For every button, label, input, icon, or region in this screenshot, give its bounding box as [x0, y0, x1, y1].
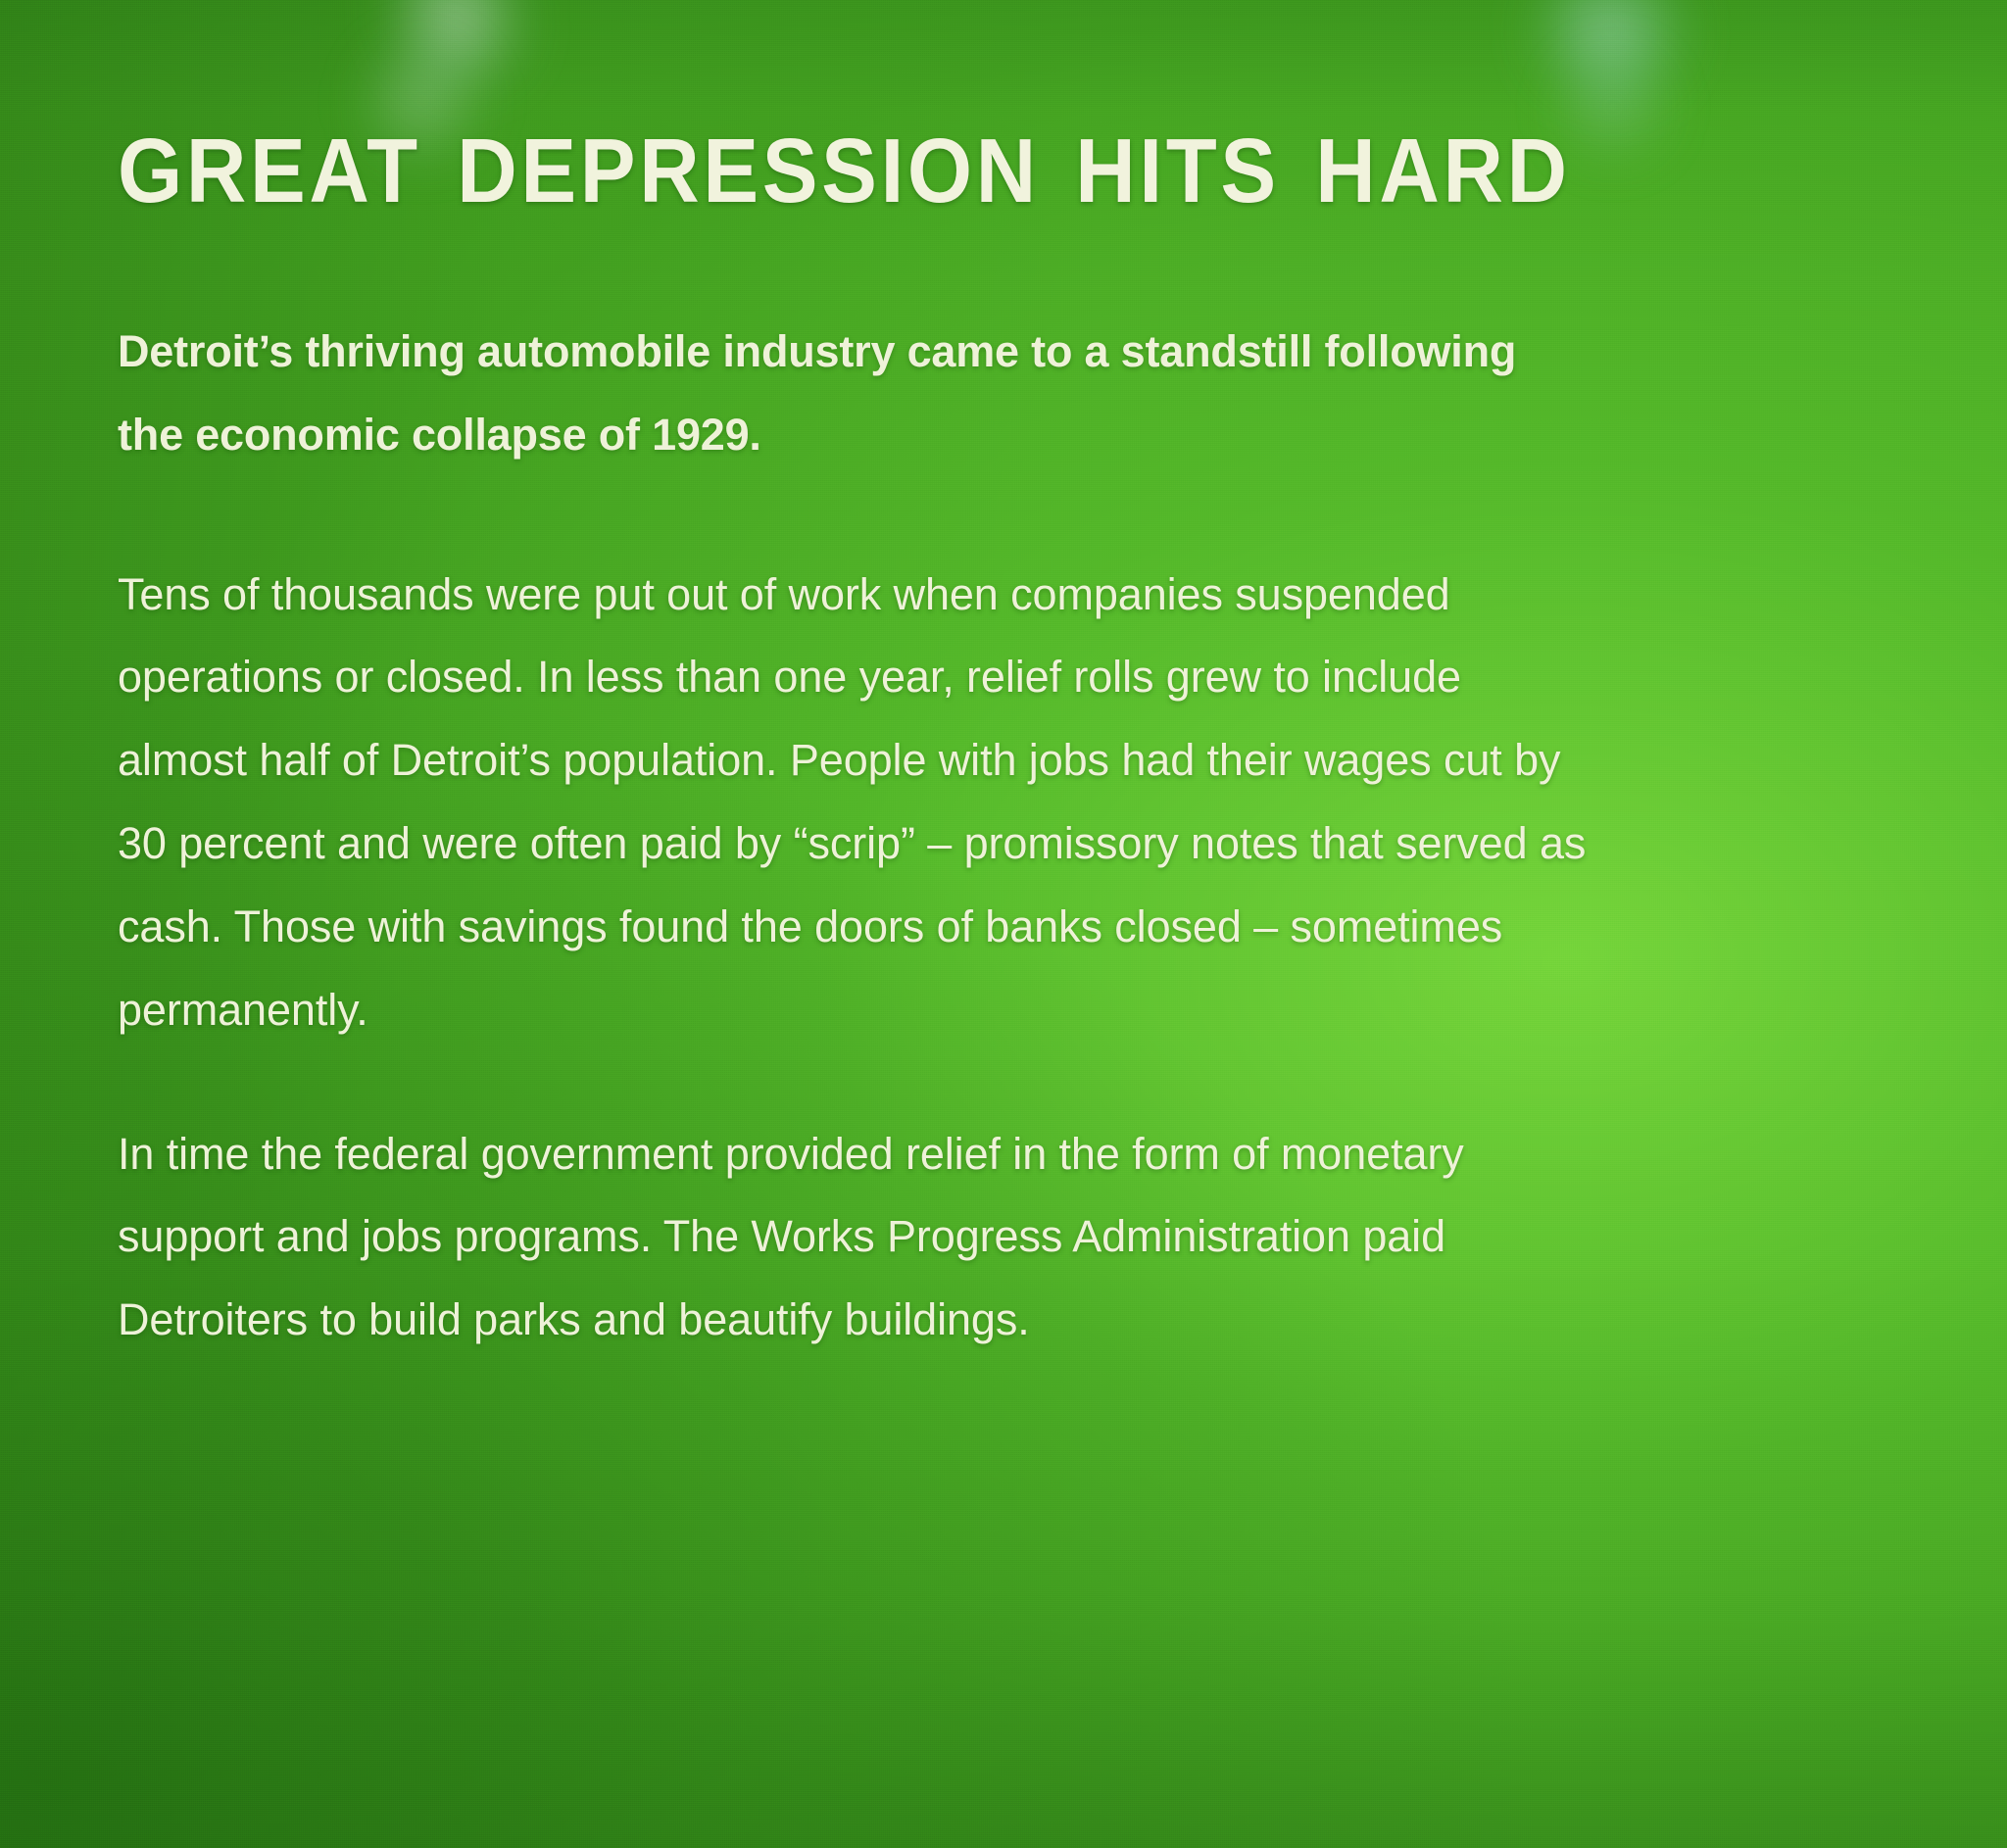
panel-content: Great Depression Hits Hard Detroit’s thr… [118, 125, 1882, 1362]
body-paragraph-federal-relief: In time the federal government provided … [118, 1113, 1509, 1362]
light-glare-right-icon [1524, 0, 1696, 114]
page-title: Great Depression Hits Hard [118, 125, 1732, 217]
exhibit-panel: Great Depression Hits Hard Detroit’s thr… [0, 0, 2007, 1848]
body-paragraph-unemployment: Tens of thousands were put out of work w… [118, 554, 1588, 1052]
light-glare-left-icon [372, 0, 541, 107]
lead-paragraph: Detroit’s thriving automobile industry c… [118, 311, 1539, 477]
